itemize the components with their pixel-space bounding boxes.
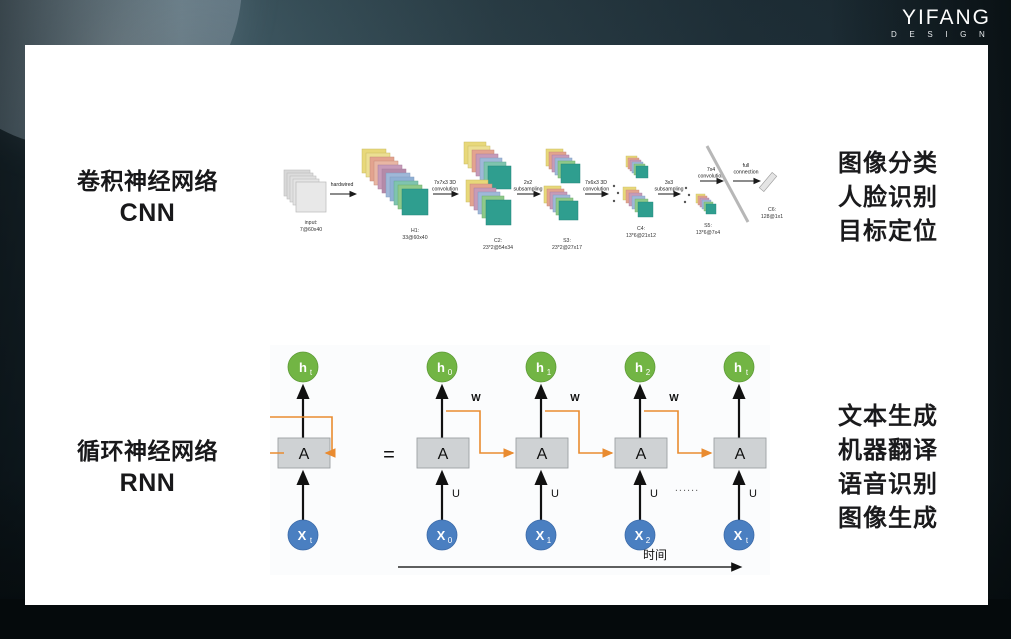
cnn-stage-c4-l2: 13*6@21x12 [626, 233, 656, 239]
rnn-u-label-0: U [452, 488, 460, 500]
rnn-input-sub-0: 0 [448, 536, 453, 545]
cnn-stage-s3-l2: 23*2@27x17 [552, 245, 582, 251]
cnn-stage-c2: C2: 23*2@54x34 [464, 142, 513, 251]
cnn-op-fc: full connection [733, 163, 760, 181]
cnn-stage-c4-l1: C4: [637, 226, 645, 232]
rnn-hidden-sub-1: 1 [547, 368, 552, 377]
cnn-op-conv2-l1: 7x6x3 3D [585, 180, 607, 186]
cnn-op-conv1: 7x7x3 3D convolution [432, 180, 458, 194]
content-card: 卷积神经网络 CNN [25, 45, 988, 605]
cnn-application-2: 目标定位 [788, 215, 988, 249]
rnn-label-group: 循环神经网络 RNN [25, 436, 270, 500]
rnn-hidden-sub-0: 0 [448, 368, 453, 377]
rnn-hidden-label-2: h [635, 360, 643, 375]
rnn-cell-label-t: A [735, 446, 746, 463]
cnn-op-conv2-l2: convolution [583, 187, 609, 193]
rnn-folded-hidden-label: h [299, 360, 307, 375]
cnn-stage-c6-l1: C6: [768, 207, 776, 213]
cnn-stage-h1-l1: H1: [411, 228, 419, 234]
cnn-title-en: CNN [25, 197, 270, 230]
cnn-stage-input: input: 7@60x40 [284, 170, 326, 233]
cnn-stage-h1-l2: 33@60x40 [402, 235, 427, 241]
rnn-w-label-2: W [669, 393, 679, 404]
cnn-dot-f [684, 201, 686, 203]
cnn-stage-s3: S3: 23*2@27x17 [544, 149, 582, 251]
rnn-hidden-sub-2: 2 [646, 368, 651, 377]
row-cnn: 卷积神经网络 CNN [25, 90, 988, 305]
rnn-title-cn: 循环神经网络 [25, 436, 270, 467]
cnn-op-fc-l2: connection [733, 170, 758, 176]
cnn-stage-c6: C6: 128@1x1 [759, 172, 783, 220]
cnn-op-hardwired: hardwired [330, 182, 356, 194]
cnn-dot-a [613, 185, 615, 187]
rnn-application-0: 文本生成 [788, 400, 988, 434]
rnn-cell-label-2: A [636, 446, 647, 463]
rnn-hidden-label-0: h [437, 360, 445, 375]
rnn-u-label-2: U [650, 488, 658, 500]
cnn-stage-c2-l2: 23*2@54x34 [483, 245, 513, 251]
cnn-op-sub1-l1: 2x2 [524, 180, 532, 186]
slide-root: YIFANG D E S I G N 卷积神经网络 CNN [0, 0, 1011, 639]
cnn-op-sub2-l1: 3x3 [665, 180, 673, 186]
cnn-stage-s5: S5: 13*6@7x4 [696, 194, 720, 236]
rnn-application-2: 语音识别 [788, 468, 988, 502]
cnn-op-conv3-l2: convolution [698, 174, 724, 180]
cnn-dot-e [688, 194, 690, 196]
rnn-input-label-t: X [734, 528, 743, 543]
cnn-stage-s5-l1: S5: [704, 223, 712, 229]
rnn-w-label-0: W [471, 393, 481, 404]
cnn-label-group: 卷积神经网络 CNN [25, 166, 270, 230]
row-rnn: 循环神经网络 RNN [25, 345, 988, 590]
cnn-stage-h1: H1: 33@60x40 [362, 149, 428, 241]
rnn-figure: h t A X t = [270, 345, 788, 590]
rnn-input-label-2: X [635, 528, 644, 543]
rnn-diagram: h t A X t = [270, 345, 770, 575]
cnn-stage-s5-l2: 13*6@7x4 [696, 230, 720, 236]
rnn-cell-label-1: A [537, 446, 548, 463]
cnn-stage-s3-l1: S3: [563, 238, 571, 244]
cnn-stage-input-l2: 7@60x40 [300, 227, 322, 233]
cnn-op-conv1-l2: convolution [432, 187, 458, 193]
cnn-op-sub2: 3x3 subsampling [654, 180, 683, 194]
cnn-stage-input-l1: input: [305, 220, 318, 226]
rnn-equals-sign: = [383, 444, 395, 466]
cnn-application-0: 图像分类 [788, 147, 988, 181]
rnn-folded-cell-label: A [299, 446, 310, 463]
brand-logo: YIFANG D E S I G N [891, 6, 991, 41]
rnn-cell-label-0: A [438, 446, 449, 463]
cnn-op-sub2-l2: subsampling [654, 187, 683, 193]
rnn-ellipsis: ...... [675, 482, 699, 494]
brand-logo-name: YIFANG [891, 6, 991, 29]
cnn-op-sub1: 2x2 subsampling [513, 180, 542, 194]
cnn-applications: 图像分类 人脸识别 目标定位 [788, 147, 988, 249]
brand-logo-sub: D E S I G N [891, 29, 991, 41]
rnn-input-label-1: X [536, 528, 545, 543]
cnn-stage-c4: C4: 13*6@21x12 [623, 156, 656, 239]
rnn-hidden-label-t: h [734, 360, 742, 375]
rnn-application-3: 图像生成 [788, 502, 988, 536]
cnn-stage-c6-l2: 128@1x1 [761, 214, 783, 220]
cnn-application-1: 人脸识别 [788, 181, 988, 215]
rnn-applications: 文本生成 机器翻译 语音识别 图像生成 [788, 400, 988, 536]
cnn-op-conv3-l1: 7x4 [707, 167, 715, 173]
cnn-op-conv2: 7x6x3 3D convolution [583, 180, 609, 194]
cnn-title-cn: 卷积神经网络 [25, 166, 270, 197]
cnn-op-sub1-l2: subsampling [513, 187, 542, 193]
cnn-dot-d [685, 187, 687, 189]
cnn-figure: input: 7@60x40 hardwired [270, 90, 788, 305]
cnn-op-fc-l1: full [743, 163, 750, 169]
rnn-title-en: RNN [25, 467, 270, 500]
cnn-dot-b [617, 192, 619, 194]
rnn-w-label-1: W [570, 393, 580, 404]
rnn-input-sub-2: 2 [646, 536, 651, 545]
cnn-diagram: input: 7@60x40 hardwired [278, 94, 798, 299]
cnn-dot-c [613, 200, 615, 202]
rnn-u-label-1: U [551, 488, 559, 500]
rnn-input-label-0: X [437, 528, 446, 543]
cnn-op-hardwired-l1: hardwired [331, 182, 354, 188]
rnn-u-label-t: U [749, 488, 757, 500]
rnn-application-1: 机器翻译 [788, 434, 988, 468]
rnn-hidden-label-1: h [536, 360, 544, 375]
cnn-op-conv1-l1: 7x7x3 3D [434, 180, 456, 186]
rnn-time-label: 时间 [643, 548, 667, 562]
rnn-input-sub-1: 1 [547, 536, 552, 545]
background-bottom-band [0, 599, 1011, 639]
rnn-folded-input-label: X [298, 528, 307, 543]
cnn-stage-c2-l1: C2: [494, 238, 502, 244]
